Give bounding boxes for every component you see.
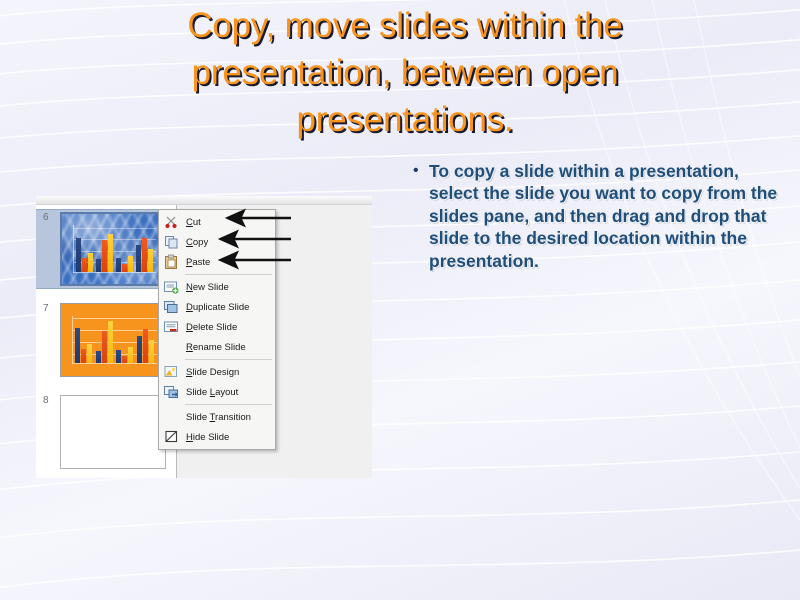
chart-x-axis — [72, 363, 157, 364]
screenshot-toolbar-strip — [36, 196, 372, 205]
context-menu[interactable]: Cut Copy Paste — [158, 209, 276, 450]
menu-item-slide-transition[interactable]: Slide Transition — [159, 407, 275, 427]
thumbnail-number: 8 — [43, 395, 49, 406]
menu-item-label: Copy — [186, 237, 208, 248]
slides-pane[interactable]: 6 — [36, 205, 177, 478]
slide-thumbnail-6[interactable] — [60, 212, 166, 286]
list-item[interactable]: 6 — [36, 209, 176, 289]
scissors-icon — [163, 214, 180, 230]
menu-item-label: Delete Slide — [186, 322, 237, 333]
slide-thumbnail-7[interactable] — [60, 303, 166, 377]
bullet-marker: • — [410, 160, 429, 182]
menu-separator — [185, 274, 272, 275]
menu-item-label: Paste — [186, 257, 210, 268]
slide-design-icon — [163, 364, 180, 380]
slide-layout-icon — [163, 384, 180, 400]
menu-separator — [185, 359, 272, 360]
menu-item-label: Slide Transition — [186, 412, 251, 423]
thumbnail-number: 7 — [43, 303, 49, 314]
menu-item-copy[interactable]: Copy — [159, 232, 275, 252]
menu-separator — [185, 404, 272, 405]
chart-bars — [74, 315, 156, 364]
delete-slide-icon — [163, 319, 180, 335]
menu-item-slide-design[interactable]: Slide Design — [159, 362, 275, 382]
thumbnail-number: 6 — [43, 212, 49, 223]
menu-item-cut[interactable]: Cut — [159, 212, 275, 232]
menu-item-rename-slide[interactable]: Rename Slide — [159, 337, 275, 357]
menu-item-label: New Slide — [186, 282, 229, 293]
mini-bar-chart — [69, 316, 156, 365]
menu-item-new-slide[interactable]: New Slide — [159, 277, 275, 297]
menu-item-label: Cut — [186, 217, 201, 228]
body-paragraph: To copy a slide within a presentation, s… — [429, 160, 778, 272]
page-title: Copy, move slides within the presentatio… — [70, 2, 740, 143]
slide-background-water — [62, 214, 164, 284]
menu-item-label: Rename Slide — [186, 342, 246, 353]
hide-slide-icon — [163, 429, 180, 445]
duplicate-slide-icon — [163, 299, 180, 315]
menu-item-label: Slide Design — [186, 367, 239, 378]
menu-item-delete-slide[interactable]: Delete Slide — [159, 317, 275, 337]
list-item[interactable]: 8 — [36, 393, 176, 471]
menu-item-duplicate-slide[interactable]: Duplicate Slide — [159, 297, 275, 317]
copy-icon — [163, 234, 180, 250]
menu-item-label: Slide Layout — [186, 387, 238, 398]
menu-item-label: Duplicate Slide — [186, 302, 249, 313]
chart-x-axis — [73, 272, 156, 273]
menu-item-hide-slide[interactable]: Hide Slide — [159, 427, 275, 447]
chart-bars — [74, 224, 155, 272]
list-item[interactable]: 7 — [36, 301, 176, 379]
slide-thumbnail-8[interactable] — [60, 395, 166, 469]
slide-background-orange — [61, 304, 165, 376]
slide-background-blank — [61, 396, 165, 468]
menu-item-label: Hide Slide — [186, 432, 229, 443]
menu-item-paste[interactable]: Paste — [159, 252, 275, 272]
mini-bar-chart — [70, 225, 156, 273]
menu-item-slide-layout[interactable]: Slide Layout — [159, 382, 275, 402]
new-slide-icon — [163, 279, 180, 295]
body-text-block: • To copy a slide within a presentation,… — [410, 160, 778, 272]
embedded-screenshot: 6 — [36, 196, 372, 478]
paste-icon — [163, 254, 180, 270]
